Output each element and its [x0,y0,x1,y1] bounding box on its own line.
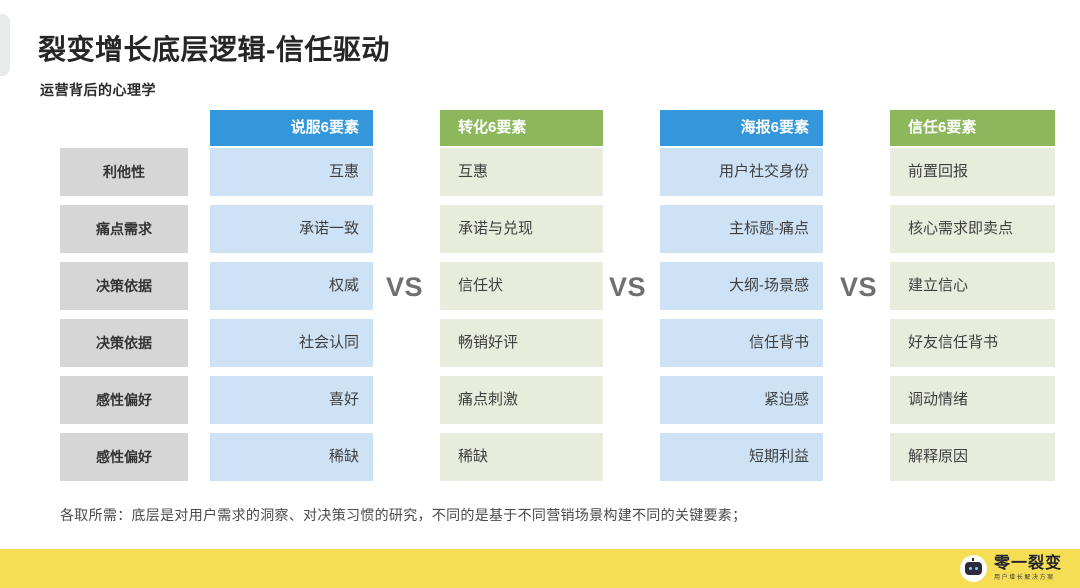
page-title: 裂变增长底层逻辑-信任驱动 [38,28,390,68]
comparison-table: 说服6要素 转化6要素 海报6要素 信任6要素 利他性 痛点需求 决策依据 决策… [0,110,1080,490]
slide-root: 裂变增长底层逻辑-信任驱动 运营背后的心理学 说服6要素 转化6要素 海报6要素… [0,0,1080,588]
left-edge-decoration [0,14,10,76]
table-cell: 短期利益 [660,433,823,481]
row-label: 痛点需求 [60,205,188,253]
table-cell: 互惠 [440,148,603,196]
footer-bar: 零一裂变 用户增长解决方案 [0,549,1080,588]
column-header-4: 信任6要素 [890,110,1055,146]
table-cell: 承诺与兑现 [440,205,603,253]
table-cell: 稀缺 [210,433,373,481]
table-cell: 痛点刺激 [440,376,603,424]
table-cell: 信任状 [440,262,603,310]
brand-text-block: 零一裂变 用户增长解决方案 [994,556,1062,581]
footnote-text: 各取所需：底层是对用户需求的洞察、对决策习惯的研究，不同的是基于不同营销场景构建… [60,505,746,525]
row-label: 决策依据 [60,319,188,367]
table-cell: 畅销好评 [440,319,603,367]
vs-separator-2: VS [609,274,646,301]
column-header-1: 说服6要素 [210,110,373,146]
column-header-2: 转化6要素 [440,110,603,146]
table-cell: 社会认同 [210,319,373,367]
brand-logo: 零一裂变 用户增长解决方案 [960,553,1062,584]
table-cell: 前置回报 [890,148,1055,196]
robot-icon [960,555,987,582]
table-cell: 承诺一致 [210,205,373,253]
vs-separator-3: VS [840,274,877,301]
page-subtitle: 运营背后的心理学 [40,80,156,100]
row-label: 决策依据 [60,262,188,310]
table-cell: 互惠 [210,148,373,196]
brand-tagline: 用户增长解决方案 [994,575,1062,581]
table-cell: 稀缺 [440,433,603,481]
vs-separator-1: VS [386,274,423,301]
row-label: 利他性 [60,148,188,196]
table-cell: 好友信任背书 [890,319,1055,367]
table-cell: 紧迫感 [660,376,823,424]
table-cell: 核心需求即卖点 [890,205,1055,253]
table-cell: 主标题-痛点 [660,205,823,253]
column-header-3: 海报6要素 [660,110,823,146]
table-cell: 大纲-场景感 [660,262,823,310]
table-cell: 调动情绪 [890,376,1055,424]
table-cell: 建立信心 [890,262,1055,310]
table-cell: 喜好 [210,376,373,424]
table-cell: 权威 [210,262,373,310]
row-label: 感性偏好 [60,433,188,481]
table-cell: 解释原因 [890,433,1055,481]
table-cell: 用户社交身份 [660,148,823,196]
robot-eye-right [975,567,978,570]
table-cell: 信任背书 [660,319,823,367]
row-label: 感性偏好 [60,376,188,424]
robot-eye-left [969,567,972,570]
brand-name: 零一裂变 [994,556,1062,572]
